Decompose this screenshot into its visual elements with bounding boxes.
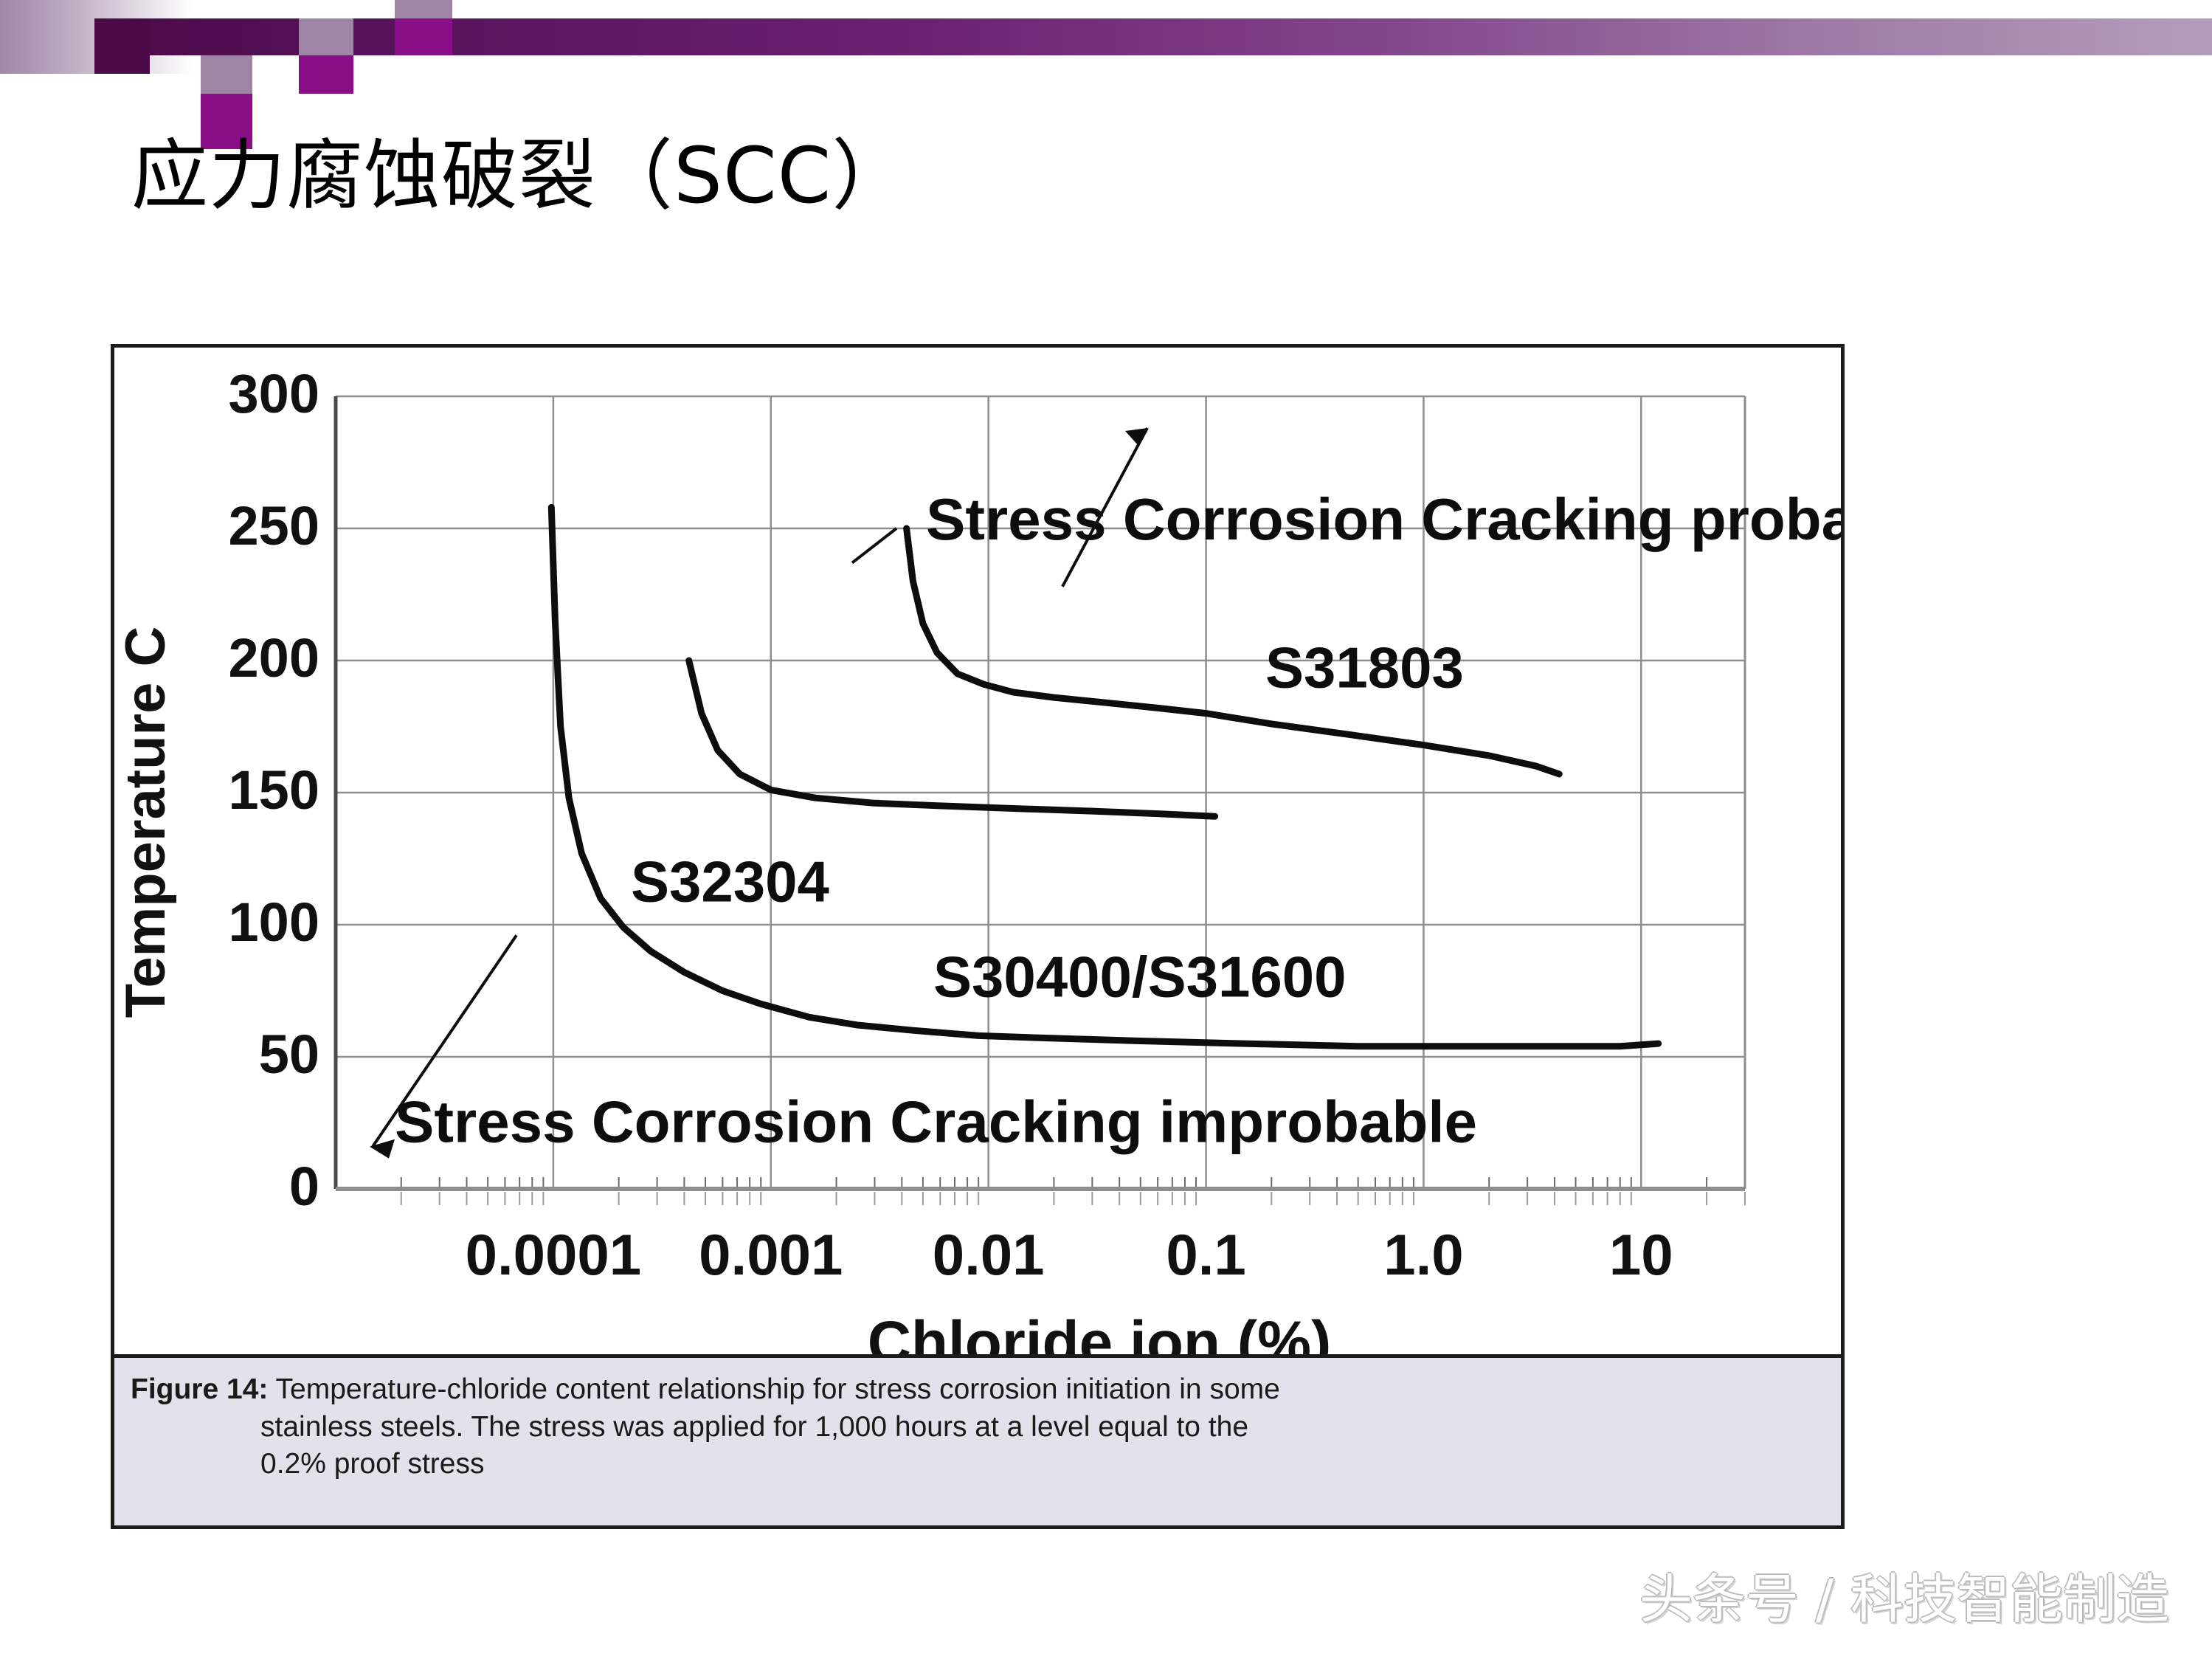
svg-text:50: 50 [259, 1024, 319, 1085]
scc-chart-svg: 050100150200250300Temperature C0.00010.0… [114, 348, 1841, 1403]
deco-square-light-b [201, 55, 252, 94]
svg-text:0.1: 0.1 [1166, 1222, 1245, 1287]
caption-figure-label: Figure 14: [131, 1373, 268, 1405]
svg-text:0: 0 [289, 1156, 319, 1217]
svg-text:10: 10 [1609, 1222, 1673, 1287]
deco-square-magenta-a [395, 18, 452, 55]
svg-text:Temperature C: Temperature C [114, 627, 177, 1018]
deco-square-light-a [299, 18, 353, 55]
caption-line-3: 0.2% proof stress [131, 1446, 1822, 1483]
caption-text-1: Temperature-chloride content relationshi… [276, 1373, 1280, 1405]
svg-text:150: 150 [229, 759, 319, 821]
caption-line-1: Figure 14: Temperature-chloride content … [131, 1371, 1822, 1409]
svg-text:300: 300 [229, 363, 319, 424]
slide-header-decoration [0, 0, 2212, 140]
page-title: 应力腐蚀破裂（SCC） [131, 134, 909, 217]
svg-text:1.0: 1.0 [1383, 1222, 1463, 1287]
annotation-probable-text: Stress Corrosion Cracking probable [926, 486, 1841, 552]
svg-text:250: 250 [229, 495, 319, 556]
figure-caption: Figure 14: Temperature-chloride content … [114, 1354, 1841, 1525]
deco-square-light-top [395, 0, 452, 19]
svg-text:0.01: 0.01 [933, 1222, 1045, 1287]
series-label-2: S30400/S31600 [933, 945, 1347, 1010]
watermark-text: 头条号 / 科技智能制造 [1639, 1556, 2169, 1633]
figure-container: 050100150200250300Temperature C0.00010.0… [111, 344, 1845, 1529]
deco-square-magenta-b [299, 55, 353, 94]
series-label-0: S31803 [1265, 635, 1464, 700]
svg-text:0.0001: 0.0001 [466, 1222, 642, 1287]
deco-square-dark [94, 18, 150, 74]
annotation-improbable-text: Stress Corrosion Cracking improbable [395, 1089, 1477, 1155]
chart-plot-area: 050100150200250300Temperature C0.00010.0… [114, 348, 1841, 1403]
series-label-1: S32304 [631, 849, 829, 914]
svg-text:200: 200 [229, 627, 319, 689]
svg-text:0.001: 0.001 [699, 1222, 843, 1287]
svg-text:100: 100 [229, 891, 319, 953]
caption-line-2: stainless steels. The stress was applied… [131, 1409, 1822, 1446]
